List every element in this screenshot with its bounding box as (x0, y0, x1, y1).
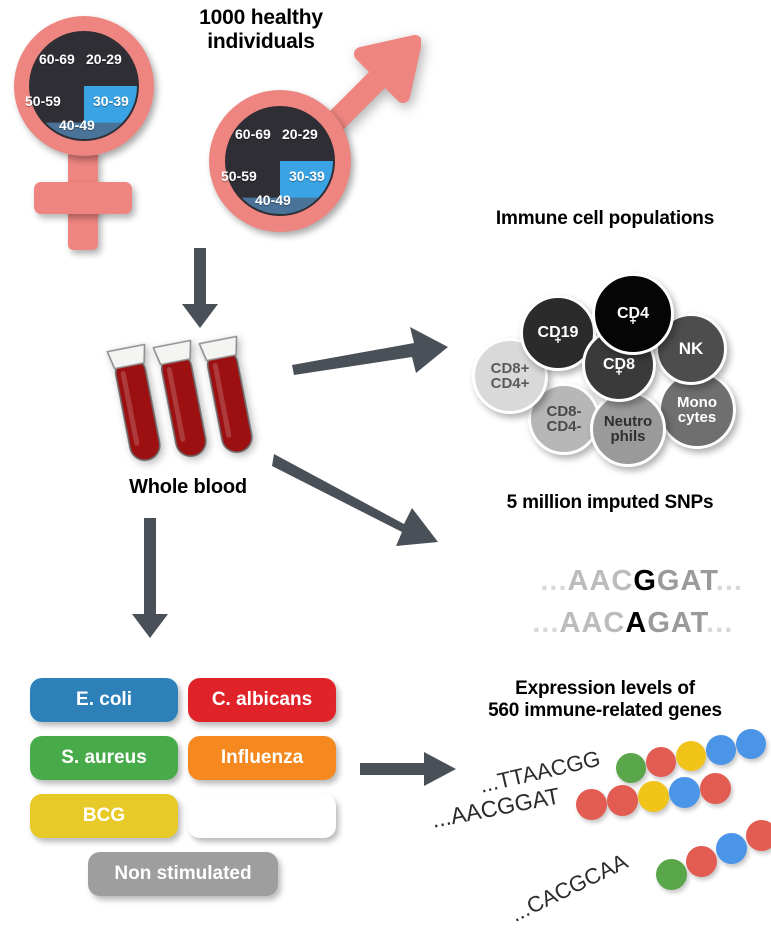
expression-bead (746, 820, 771, 851)
pie-segment-fill-m-4 (230, 198, 333, 214)
immune-cell-label: CD4+ (617, 306, 649, 322)
arrow-blood-to-immune-cells (290, 325, 450, 375)
stimulus-pill[interactable]: Non stimulated (88, 852, 278, 896)
immune-cell-label: CD19+ (538, 325, 579, 341)
stimulus-label: E. coli (76, 689, 132, 711)
male-symbol: 20-29 30-39 40-49 50-59 60-69 (205, 36, 405, 236)
immune-cell-bubble-cluster: CD19+CD4+NKCD8+CD8+CD4+CD8-CD4-Neutrophi… (472, 243, 762, 423)
stimulus-pill[interactable]: BCG (30, 794, 178, 838)
whole-blood-label: Whole blood (88, 476, 288, 499)
expression-title-line2: 560 immune-related genes (440, 700, 770, 722)
expression-strand-sequence: ...CACGCAA (506, 849, 632, 928)
pie-segment-fill-f-4 (34, 123, 137, 139)
arrow-down-cohort-to-blood (180, 248, 220, 330)
snp-row-1: ...AACAGAT... (478, 574, 733, 673)
immune-cell-label: Neutrophils (604, 414, 652, 445)
stimulus-label: SEB (242, 805, 281, 827)
expression-strands: ...TTAACGG...AACGGAT...CACGCAA (420, 735, 771, 915)
immune-cell-label: CD8-CD4- (546, 404, 581, 435)
expression-strand: ...CACGCAA (420, 735, 771, 915)
immune-cell-label: CD8+CD4+ (491, 361, 530, 392)
immune-cell-label: Monocytes (677, 395, 717, 426)
whole-blood-tubes (106, 335, 286, 455)
immune-cell-bubble: CD4+ (592, 273, 674, 355)
expression-bead (656, 859, 687, 890)
snp-trail-1: ... (706, 607, 733, 639)
stimulus-label: Influenza (221, 747, 303, 769)
expression-bead (686, 846, 717, 877)
female-age-pie (29, 31, 139, 141)
expression-title-line1: Expression levels of (440, 678, 770, 700)
stimulus-label: BCG (83, 805, 125, 827)
immune-cell-label: NK (679, 340, 704, 357)
stimulus-label: S. aureus (61, 747, 147, 769)
figure-canvas: 1000 healthy individuals 20-29 30-39 40-… (0, 0, 771, 922)
male-age-pie-segments (227, 108, 333, 214)
female-symbol-crossbar (34, 182, 132, 214)
cohort-title-line1: 1000 healthy (166, 6, 356, 30)
snp-lead-1: ... (532, 607, 559, 639)
stimulus-pill[interactable]: Influenza (188, 736, 336, 780)
male-age-pie (225, 106, 335, 216)
stimuli-panel: E. coliC. albicansS. aureusInfluenzaBCGS… (30, 678, 340, 898)
snp-variant-1: A (625, 607, 647, 639)
immune-cell-label: CD8+ (603, 357, 635, 373)
stimulus-pill[interactable]: S. aureus (30, 736, 178, 780)
stimulus-label: Non stimulated (114, 863, 251, 885)
female-symbol: 20-29 30-39 40-49 50-59 60-69 (6, 10, 186, 255)
snp-sequences: ...AACGGAT... ...AACAGAT... (478, 532, 746, 622)
stimulus-pill[interactable]: E. coli (30, 678, 178, 722)
expression-title: Expression levels of 560 immune-related … (440, 678, 770, 722)
snps-title: 5 million imputed SNPs (460, 492, 760, 514)
snp-post-1: GAT (647, 607, 706, 639)
female-age-pie-segments (31, 33, 137, 139)
arrow-down-blood-to-stimuli (130, 518, 170, 640)
expression-bead (716, 833, 747, 864)
stimulus-label: C. albicans (212, 689, 312, 711)
immune-cells-title: Immune cell populations (440, 208, 770, 230)
immune-cell-bubble: Neutrophils (590, 391, 666, 467)
stimulus-pill[interactable]: SEB (188, 794, 336, 838)
stimulus-pill[interactable]: C. albicans (188, 678, 336, 722)
arrow-blood-to-snps (272, 448, 442, 548)
snp-pre-1: AAC (560, 607, 626, 639)
